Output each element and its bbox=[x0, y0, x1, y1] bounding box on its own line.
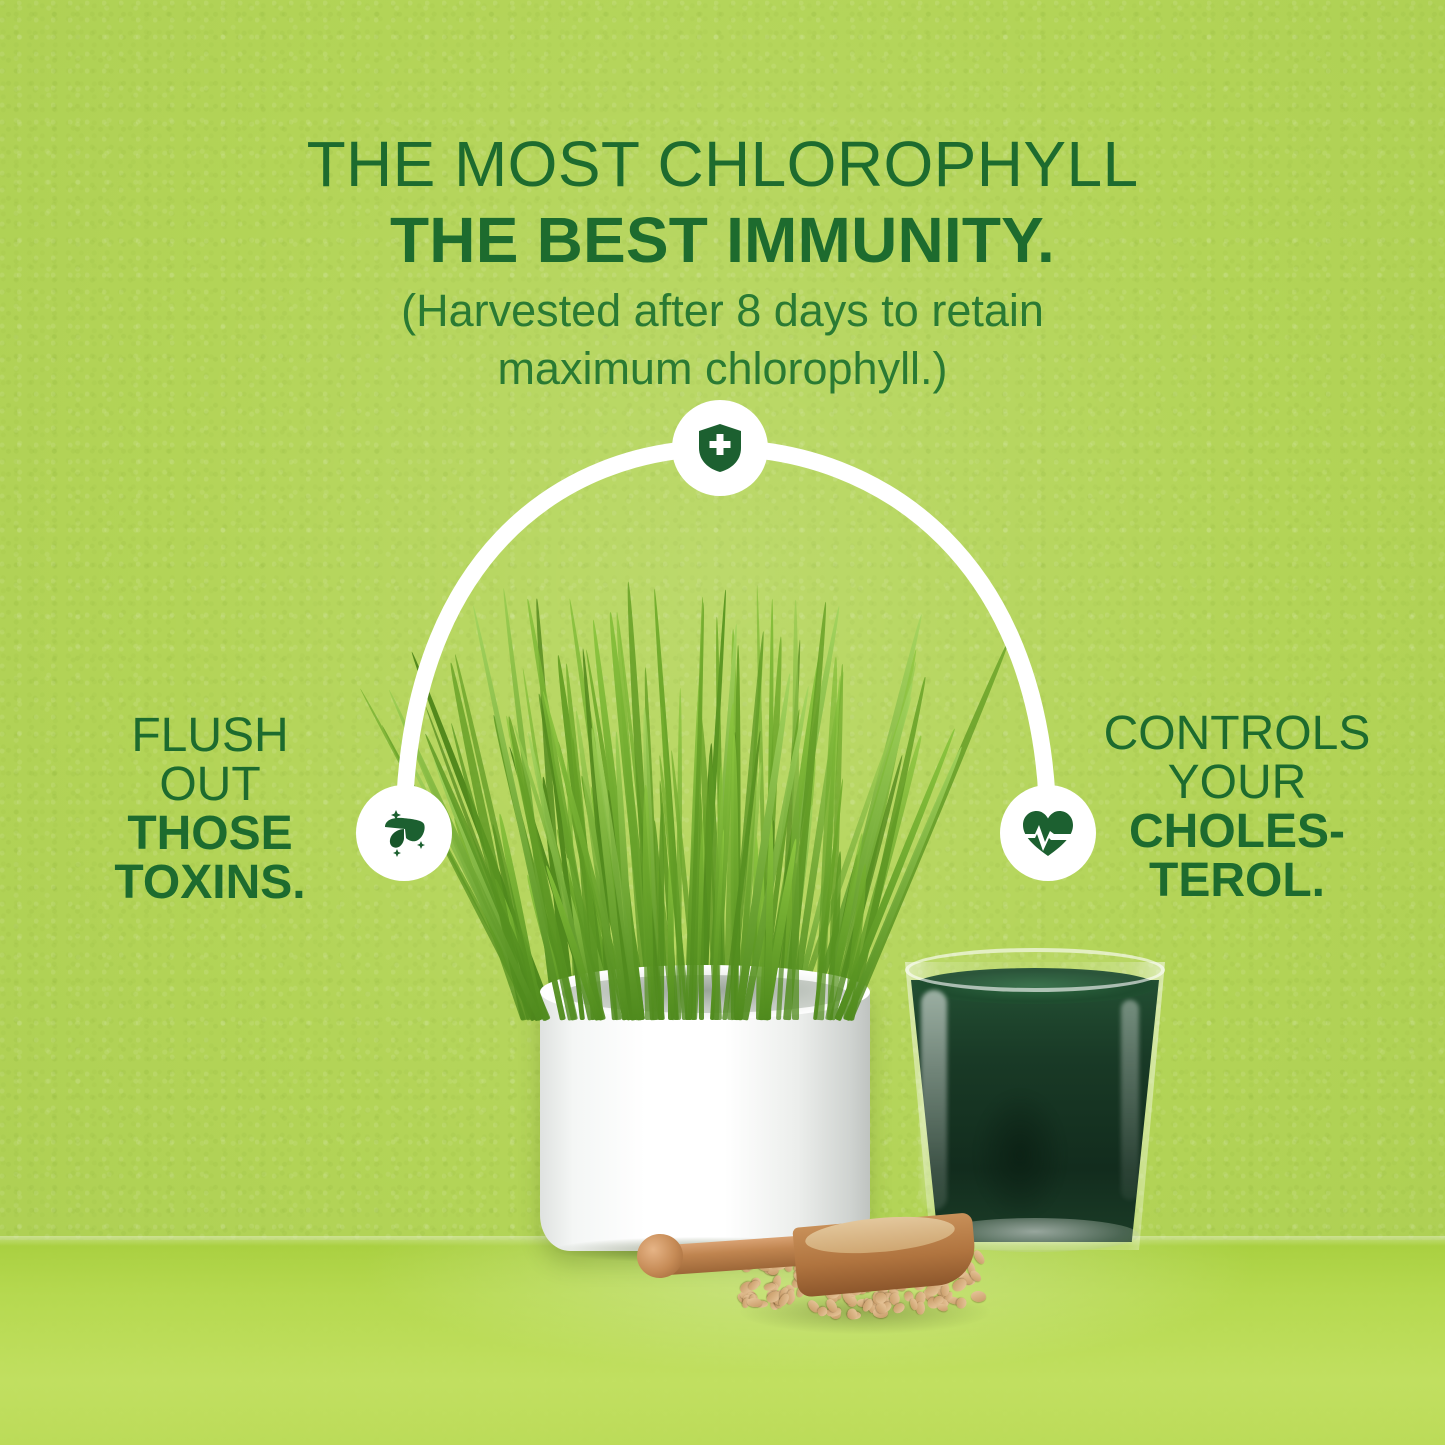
label-detox-line-3: THOSE bbox=[60, 810, 360, 859]
label-cholesterol-line-3: CHOLES- bbox=[1072, 808, 1402, 857]
subheadline-block: (Harvested after 8 days to retain maximu… bbox=[0, 282, 1445, 397]
subheadline-line-2: maximum chlorophyll.) bbox=[0, 340, 1445, 398]
heart-pulse-icon bbox=[1021, 808, 1075, 858]
label-cholesterol-line-1: CONTROLS bbox=[1072, 710, 1402, 759]
liver-sparkle-icon bbox=[376, 805, 432, 861]
headline-line-1: THE MOST CHLOROPHYLL bbox=[0, 132, 1445, 196]
juice-glass bbox=[905, 950, 1165, 1255]
wheatgrass-tuft bbox=[510, 540, 890, 1020]
poster-canvas: THE MOST CHLOROPHYLL THE BEST IMMUNITY. … bbox=[0, 0, 1445, 1445]
headline-block: THE MOST CHLOROPHYLL THE BEST IMMUNITY. bbox=[0, 132, 1445, 272]
badge-cholesterol[interactable] bbox=[1000, 785, 1096, 881]
label-cholesterol-line-4: TEROL. bbox=[1072, 857, 1402, 906]
label-cholesterol: CONTROLS YOUR CHOLES- TEROL. bbox=[1072, 710, 1402, 906]
subheadline-line-1: (Harvested after 8 days to retain bbox=[0, 282, 1445, 340]
glass-highlight-r bbox=[1121, 1000, 1139, 1200]
headline-line-2: THE BEST IMMUNITY. bbox=[0, 208, 1445, 272]
glass-highlight-l bbox=[921, 990, 947, 1210]
label-cholesterol-line-2: YOUR bbox=[1072, 759, 1402, 808]
badge-immunity[interactable] bbox=[672, 400, 768, 496]
label-detox-line-1: FLUSH bbox=[60, 712, 360, 761]
glass-rim bbox=[905, 948, 1165, 992]
pot-body bbox=[540, 983, 870, 1251]
label-detox-line-4: TOXINS. bbox=[60, 859, 360, 908]
wheat-seed bbox=[971, 1290, 987, 1302]
juice-shadow bbox=[975, 1090, 1065, 1220]
label-detox-line-2: OUT bbox=[60, 761, 360, 810]
label-detox: FLUSH OUT THOSE TOXINS. bbox=[60, 712, 360, 908]
wooden-scoop bbox=[645, 1212, 965, 1302]
product-photo bbox=[430, 540, 1220, 1445]
shield-plus-icon bbox=[697, 423, 743, 473]
pot-inner bbox=[562, 975, 848, 1013]
badge-detox[interactable] bbox=[356, 785, 452, 881]
